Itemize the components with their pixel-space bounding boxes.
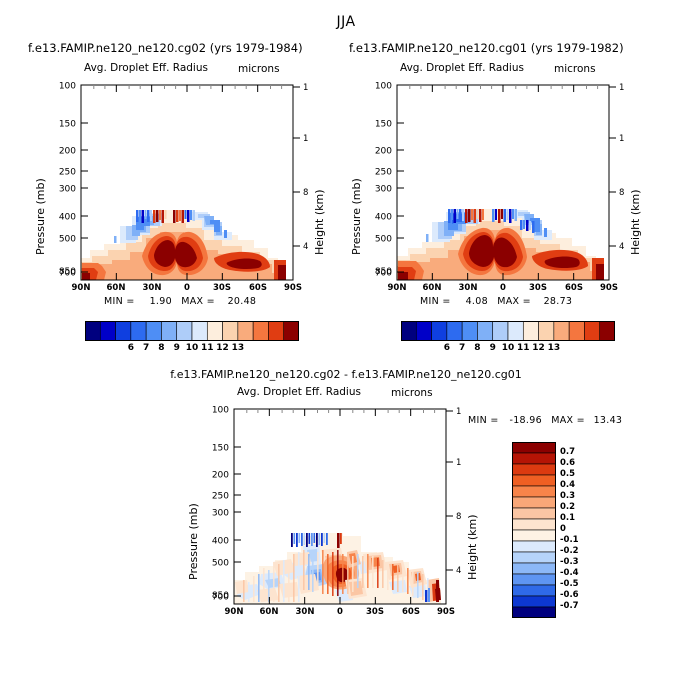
colorbar-swatch: [512, 442, 556, 453]
svg-text:4: 4: [456, 566, 461, 576]
min-value-diff: -18.96: [502, 415, 542, 426]
svg-text:150: 150: [212, 444, 229, 454]
max-value-cg01: 28.73: [534, 296, 572, 307]
x-tick-60N-diff: 60N: [259, 607, 279, 617]
minmax-diff: MIN = -18.96 MAX = 13.43: [468, 415, 622, 426]
colorbar-swatch: [569, 321, 584, 341]
season-title: JJA: [0, 14, 692, 30]
plot-svg-diff: 100150 200250 300400 500700: [199, 404, 461, 619]
colorbar-swatch: [512, 497, 556, 508]
plot-area-cg01: 100150 200250 300400 500700: [362, 80, 624, 295]
minmax-cg02: MIN = 1.90 MAX = 20.48: [104, 296, 256, 307]
svg-text:250: 250: [375, 168, 392, 178]
colorbar-cg01[interactable]: [401, 321, 615, 341]
colorbar-tick-label: -0.3: [560, 557, 579, 567]
y-tick-850-cg01: 850: [362, 267, 392, 277]
colorbar-swatch: [253, 321, 268, 341]
max-value-diff: 13.43: [588, 415, 622, 426]
x-tick-0-diff: 0: [330, 607, 350, 617]
colorbar-cg02[interactable]: [85, 321, 299, 341]
panel-subtitle-cg01: Avg. Droplet Eff. Radius: [400, 62, 524, 74]
min-label-cg02: MIN =: [104, 296, 135, 307]
svg-text:12: 12: [619, 134, 624, 144]
colorbar-swatch: [512, 596, 556, 607]
x-tick-60N-cg01: 60N: [422, 283, 442, 293]
colorbar-swatches-cg01: [401, 321, 615, 341]
svg-text:300: 300: [212, 509, 229, 519]
svg-text:12: 12: [303, 134, 308, 144]
colorbar-tick-label: 0.7: [560, 447, 575, 457]
colorbar-swatch: [146, 321, 161, 341]
colorbar-swatch: [192, 321, 207, 341]
colorbar-swatch: [512, 563, 556, 574]
colorbar-swatch: [512, 519, 556, 530]
colorbar-swatch: [284, 321, 299, 341]
colorbar-swatch: [512, 585, 556, 596]
x-tick-0-cg01: 0: [493, 283, 513, 293]
colorbar-swatch: [432, 321, 447, 341]
colorbar-swatch: [477, 321, 492, 341]
colorbar-swatch: [447, 321, 462, 341]
x-tick-90S-diff: 90S: [436, 607, 456, 617]
colorbar-swatch: [512, 552, 556, 563]
colorbar-svg-diff: [512, 442, 556, 618]
x-tick-60N-cg02: 60N: [106, 283, 126, 293]
contour-field-cg01: [397, 85, 609, 280]
colorbar-swatch: [462, 321, 477, 341]
colorbar-tick-label: 13: [542, 343, 566, 353]
colorbar-swatch: [512, 508, 556, 519]
colorbar-swatch: [512, 607, 556, 618]
colorbar-swatch: [539, 321, 554, 341]
x-tick-30N-cg01: 30N: [458, 283, 478, 293]
svg-text:100: 100: [212, 406, 229, 416]
y-tick-850-cg02: 850: [46, 267, 76, 277]
x-tick-30S-cg02: 30S: [212, 283, 232, 293]
svg-text:4: 4: [303, 242, 308, 252]
x-tick-30S-diff: 30S: [365, 607, 385, 617]
x-tick-90S-cg02: 90S: [283, 283, 303, 293]
colorbar-swatch: [600, 321, 615, 341]
svg-text:100: 100: [375, 82, 392, 92]
x-tick-30N-cg02: 30N: [142, 283, 162, 293]
y-axis-label-right-cg01: Height (km): [629, 189, 642, 255]
svg-text:300: 300: [375, 185, 392, 195]
colorbar-tick-label: 0.4: [560, 480, 575, 490]
x-tick-60S-cg01: 60S: [564, 283, 584, 293]
colorbar-tick-label: 0.1: [560, 513, 575, 523]
x-tick-90N-cg01: 90N: [387, 283, 407, 293]
max-label-diff: MAX =: [551, 415, 585, 426]
colorbar-swatches-diff: [512, 442, 556, 618]
colorbar-tick-label: -0.6: [560, 590, 579, 600]
colorbar-swatch: [416, 321, 431, 341]
diff-panel-title: f.e13.FAMIP.ne120_ne120.cg02 - f.e13.FAM…: [0, 368, 692, 381]
colorbar-swatch: [512, 453, 556, 464]
y-axis-label-right-diff: Height (km): [466, 514, 479, 580]
colorbar-swatch: [401, 321, 416, 341]
svg-text:8: 8: [456, 512, 461, 522]
colorbar-swatch: [493, 321, 508, 341]
min-label-cg01: MIN =: [420, 296, 451, 307]
svg-text:200: 200: [59, 147, 76, 157]
panel-subtitle-cg02: Avg. Droplet Eff. Radius: [84, 62, 208, 74]
x-tick-60S-cg02: 60S: [248, 283, 268, 293]
minmax-cg01: MIN = 4.08 MAX = 28.73: [420, 296, 572, 307]
plot-area-cg02: 100 150 200 250 300 400 500 700 850: [46, 80, 308, 295]
svg-text:400: 400: [212, 537, 229, 547]
colorbar-swatch: [207, 321, 222, 341]
colorbar-swatch: [512, 530, 556, 541]
max-value-cg02: 20.48: [218, 296, 256, 307]
colorbar-swatch: [223, 321, 238, 341]
colorbar-swatch: [116, 321, 131, 341]
svg-text:100: 100: [59, 82, 76, 92]
colorbar-tick-label: -0.4: [560, 568, 579, 578]
svg-text:500: 500: [212, 559, 229, 569]
panel-units-cg02: microns: [238, 63, 280, 75]
x-tick-90N-cg02: 90N: [71, 283, 91, 293]
svg-text:250: 250: [212, 492, 229, 502]
colorbar-swatch: [268, 321, 283, 341]
colorbar-tick-label: 0.3: [560, 491, 575, 501]
contour-field-diff: [234, 409, 446, 604]
colorbar-swatch: [554, 321, 569, 341]
colorbar-swatch: [177, 321, 192, 341]
colorbar-tick-label: 0.2: [560, 502, 575, 512]
colorbar-swatch: [508, 321, 523, 341]
panel-units-cg01: microns: [554, 63, 596, 75]
x-tick-30S-cg01: 30S: [528, 283, 548, 293]
svg-text:16: 16: [303, 83, 308, 93]
min-value-cg02: 1.90: [138, 296, 172, 307]
x-tick-90N-diff: 90N: [224, 607, 244, 617]
svg-text:200: 200: [212, 471, 229, 481]
svg-text:8: 8: [303, 188, 308, 198]
x-tick-90S-cg01: 90S: [599, 283, 619, 293]
svg-text:300: 300: [59, 185, 76, 195]
svg-text:400: 400: [59, 213, 76, 223]
svg-text:400: 400: [375, 213, 392, 223]
svg-text:200: 200: [375, 147, 392, 157]
plot-svg-cg01: 100150 200250 300400 500700: [362, 80, 624, 295]
x-tick-60S-diff: 60S: [401, 607, 421, 617]
diff-subtitle: Avg. Droplet Eff. Radius: [237, 386, 361, 398]
svg-text:500: 500: [375, 235, 392, 245]
max-label-cg01: MAX =: [497, 296, 531, 307]
contour-field-cg02: [81, 85, 293, 280]
x-tick-0-cg02: 0: [177, 283, 197, 293]
colorbar-swatch: [512, 486, 556, 497]
svg-text:150: 150: [375, 120, 392, 130]
colorbar-swatches-cg02: [85, 321, 299, 341]
svg-text:16: 16: [456, 407, 461, 417]
colorbar-tick-label: -0.5: [560, 579, 579, 589]
colorbar-tick-label: -0.2: [560, 546, 579, 556]
min-value-cg01: 4.08: [454, 296, 488, 307]
colorbar-swatch: [85, 321, 100, 341]
svg-text:12: 12: [456, 458, 461, 468]
colorbar-swatch: [512, 574, 556, 585]
colorbar-tick-label: -0.7: [560, 601, 579, 611]
plot-area-diff: 100150 200250 300400 500700: [199, 404, 461, 619]
colorbar-ticklabels-cg01: 678910111213: [401, 343, 615, 357]
panel-title-cg01: f.e13.FAMIP.ne120_ne120.cg01 (yrs 1979-1…: [349, 41, 624, 55]
colorbar-swatch: [100, 321, 115, 341]
y-axis-label-right-cg02: Height (km): [313, 189, 326, 255]
colorbar-swatch: [131, 321, 146, 341]
x-tick-30N-diff: 30N: [295, 607, 315, 617]
colorbar-svg-cg02: [85, 321, 299, 341]
svg-text:500: 500: [59, 235, 76, 245]
max-label-cg02: MAX =: [181, 296, 215, 307]
colorbar-swatch: [512, 541, 556, 552]
panel-title-cg02: f.e13.FAMIP.ne120_ne120.cg02 (yrs 1979-1…: [28, 41, 303, 55]
min-label-diff: MIN =: [468, 415, 499, 426]
svg-text:16: 16: [619, 83, 624, 93]
svg-text:250: 250: [59, 168, 76, 178]
svg-text:150: 150: [59, 120, 76, 130]
svg-text:8: 8: [619, 188, 624, 198]
diff-units: microns: [391, 387, 433, 399]
colorbar-swatch: [584, 321, 599, 341]
plot-svg-cg02: 100 150 200 250 300 400 500 700 850: [46, 80, 308, 295]
colorbar-swatch: [238, 321, 253, 341]
colorbar-ticklabels-cg02: 678910111213: [85, 343, 299, 357]
colorbar-diff[interactable]: [512, 442, 556, 618]
colorbar-svg-cg01: [401, 321, 615, 341]
svg-text:4: 4: [619, 242, 624, 252]
colorbar-swatch: [512, 475, 556, 486]
colorbar-tick-label: 0.6: [560, 458, 575, 468]
colorbar-tick-label: 0: [560, 524, 566, 534]
y-tick-850-diff: 850: [199, 591, 229, 601]
colorbar-swatch: [523, 321, 538, 341]
colorbar-tick-label: -0.1: [560, 535, 579, 545]
colorbar-tick-label: 0.5: [560, 469, 575, 479]
colorbar-swatch: [161, 321, 176, 341]
colorbar-tick-label: 13: [226, 343, 250, 353]
colorbar-ticklabels-diff: 0.70.60.50.40.30.20.10-0.1-0.2-0.3-0.4-0…: [558, 442, 592, 618]
colorbar-swatch: [512, 464, 556, 475]
